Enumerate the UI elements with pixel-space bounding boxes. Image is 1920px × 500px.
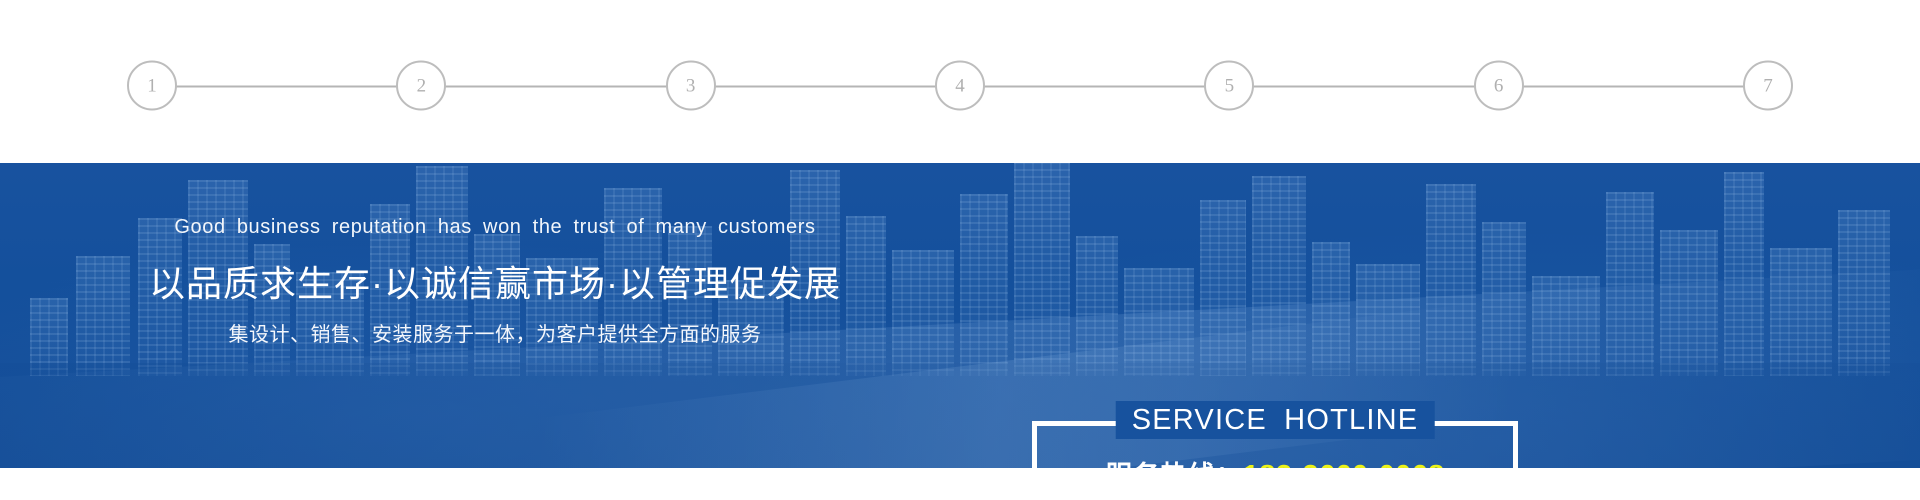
step-node-label: 3 bbox=[686, 76, 696, 95]
step-indicator-strip: 1 2 3 4 5 6 7 bbox=[0, 0, 1920, 163]
service-hotline-title: SERVICE HOTLINE bbox=[1116, 401, 1435, 439]
step-node-5[interactable]: 5 bbox=[1204, 61, 1254, 111]
slogan-chinese-main: 以品质求生存·以诚信赢市场·以管理促发展 bbox=[0, 255, 990, 307]
step-node-label: 6 bbox=[1494, 76, 1504, 95]
step-node-label: 2 bbox=[417, 76, 427, 95]
slogan-chinese-sub: 集设计、销售、安装服务于一体，为客户提供全方面的服务 bbox=[0, 318, 990, 347]
step-node-label: 1 bbox=[147, 76, 157, 95]
step-node-2[interactable]: 2 bbox=[396, 61, 446, 111]
service-hotline-content: SERVICE HOTLINE 服务热线： 183-2660-0068 服务热线… bbox=[1037, 426, 1513, 468]
step-node-7[interactable]: 7 bbox=[1743, 61, 1793, 111]
step-node-1[interactable]: 1 bbox=[127, 61, 177, 111]
step-node-6[interactable]: 6 bbox=[1474, 61, 1524, 111]
step-node-4[interactable]: 4 bbox=[935, 61, 985, 111]
service-hotline-box: SERVICE HOTLINE 服务热线： 183-2660-0068 服务热线… bbox=[1032, 421, 1518, 468]
hotline-row-primary: 服务热线： 183-2660-0068 bbox=[1037, 454, 1513, 468]
promo-banner: Good business reputation has won the tru… bbox=[0, 163, 1920, 468]
step-node-label: 4 bbox=[955, 76, 965, 95]
slogan-english: Good business reputation has won the tru… bbox=[0, 216, 990, 239]
step-node-3[interactable]: 3 bbox=[666, 61, 716, 111]
slogan-block: Good business reputation has won the tru… bbox=[0, 163, 990, 468]
step-node-label: 7 bbox=[1763, 76, 1773, 95]
hotline-label: 服务热线： bbox=[1105, 454, 1243, 468]
hotline-number-primary[interactable]: 183-2660-0068 bbox=[1243, 460, 1445, 468]
step-node-label: 5 bbox=[1225, 76, 1235, 95]
